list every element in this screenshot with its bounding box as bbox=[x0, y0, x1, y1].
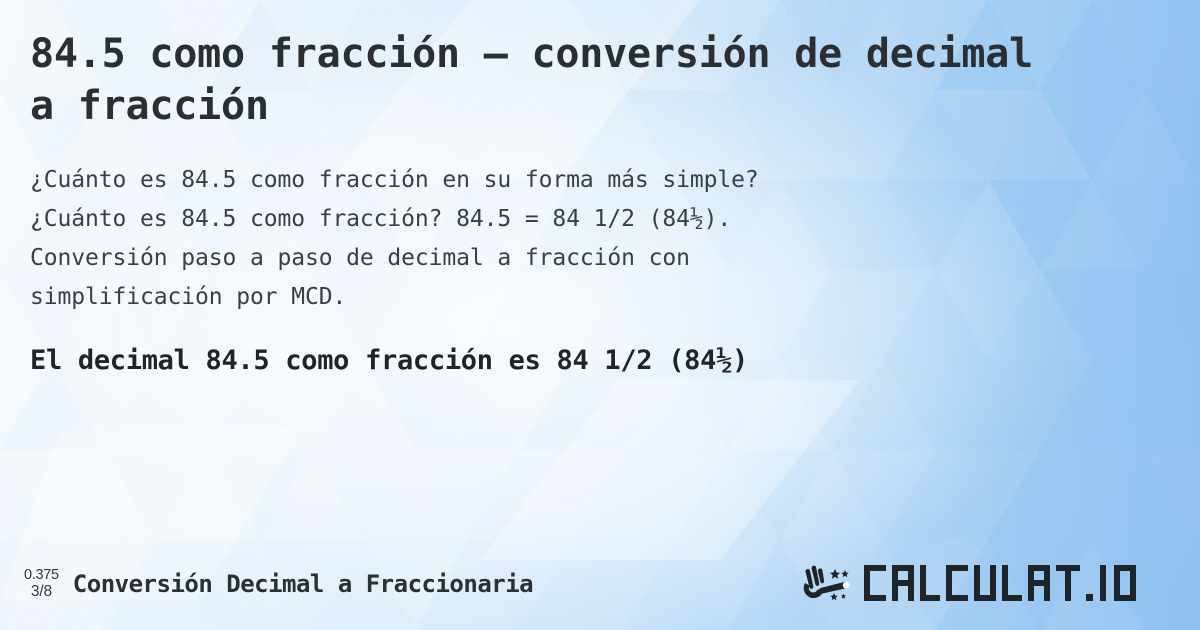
hand-magic-wand-icon bbox=[802, 563, 858, 605]
page-description: ¿Cuánto es 84.5 como fracción en su form… bbox=[30, 161, 1060, 317]
footer: 0.375 3/8 Conversión Decimal a Fracciona… bbox=[0, 538, 1200, 630]
page-title: 84.5 como fracción – conversión de decim… bbox=[30, 28, 1065, 132]
badge-fraction-value: 3/8 bbox=[31, 584, 52, 601]
brand-wordmark: CALCULAT.IO bbox=[862, 561, 1170, 607]
footer-brand-logo[interactable]: CALCULAT.IO bbox=[802, 561, 1176, 607]
footer-brand-left[interactable]: 0.375 3/8 Conversión Decimal a Fracciona… bbox=[24, 567, 533, 600]
decimal-fraction-badge-icon: 0.375 3/8 bbox=[24, 567, 59, 600]
badge-decimal-value: 0.375 bbox=[24, 568, 59, 584]
answer-statement: El decimal 84.5 como fracción es 84 1/2 … bbox=[30, 344, 1170, 378]
page-content: 84.5 como fracción – conversión de decim… bbox=[0, 0, 1200, 630]
footer-section-title: Conversión Decimal a Fraccionaria bbox=[73, 570, 533, 598]
